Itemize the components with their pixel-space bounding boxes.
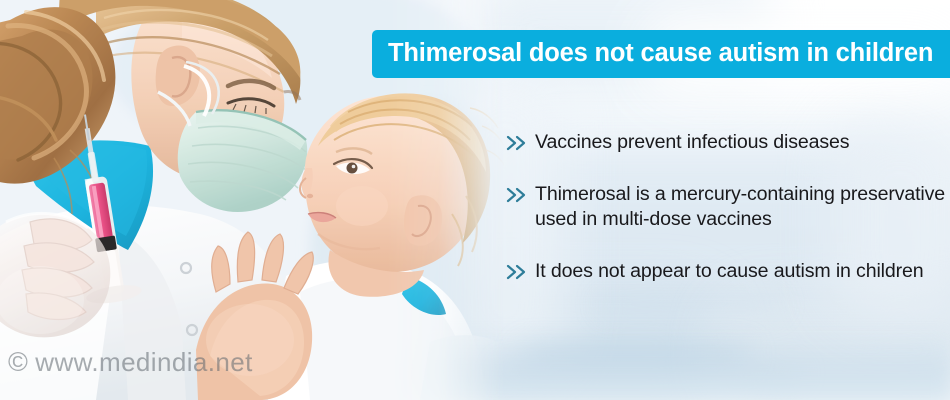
list-item: Thimerosal is a mercury-containing prese…	[506, 182, 946, 233]
list-item: It does not appear to cause autism in ch…	[506, 259, 946, 285]
double-chevron-right-icon	[506, 187, 528, 213]
key-points-list: Vaccines prevent infectious diseases Thi…	[506, 130, 946, 285]
list-item-text: It does not appear to cause autism in ch…	[535, 259, 923, 284]
list-item-text: Thimerosal is a mercury-containing prese…	[535, 182, 946, 233]
double-chevron-right-icon	[506, 264, 528, 290]
list-item: Vaccines prevent infectious diseases	[506, 130, 946, 156]
list-item-text: Vaccines prevent infectious diseases	[535, 130, 849, 155]
infographic-banner: Thimerosal does not cause autism in chil…	[0, 0, 950, 400]
double-chevron-right-icon	[506, 135, 528, 161]
headline-text: Thimerosal does not cause autism in chil…	[388, 41, 933, 67]
background-blur-streak	[600, 300, 780, 309]
headline-banner: Thimerosal does not cause autism in chil…	[372, 30, 950, 78]
